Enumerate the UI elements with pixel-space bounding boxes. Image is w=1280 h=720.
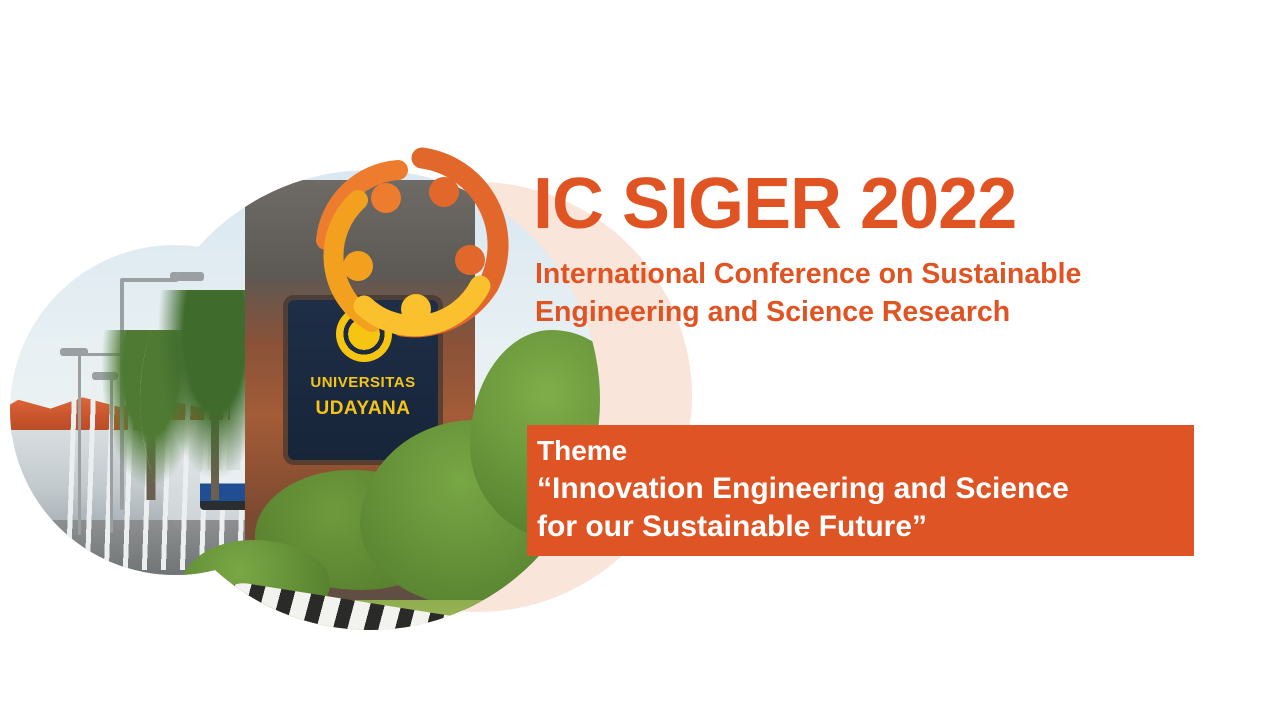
sign-text-line1: UNIVERSITAS: [288, 374, 438, 391]
page-title: IC SIGER 2022: [533, 168, 1016, 240]
theme-label: Theme: [537, 434, 627, 468]
ic-siger-logo-icon: [302, 136, 514, 350]
street-lamp-2-head: [60, 348, 88, 356]
dot-yellow-bottom-icon: [401, 294, 431, 324]
photo-collage: UNIVERSITAS UDAYANA: [0, 0, 620, 720]
sign-text-line2: UDAYANA: [288, 398, 438, 420]
theme-quote-line-1: “Innovation Engineering and Science: [537, 470, 1187, 508]
subtitle-line-1: International Conference on Sustainable: [535, 256, 1255, 294]
street-lamp-2: [78, 355, 81, 535]
dot-orange-right-icon: [455, 245, 485, 275]
poster-canvas: UNIVERSITAS UDAYANA: [0, 0, 1280, 720]
subtitle-line-2: Engineering and Science Research: [535, 294, 1255, 332]
theme-quote: “Innovation Engineering and Science for …: [537, 470, 1187, 546]
dot-amber-left-icon: [343, 251, 373, 281]
dot-orange-top-icon: [371, 183, 401, 213]
page-subtitle: International Conference on Sustainable …: [535, 256, 1255, 332]
dot-orange-upper-right-icon: [429, 177, 459, 207]
theme-quote-line-2: for our Sustainable Future”: [537, 508, 1187, 546]
street-lamp-1-head: [170, 272, 204, 281]
